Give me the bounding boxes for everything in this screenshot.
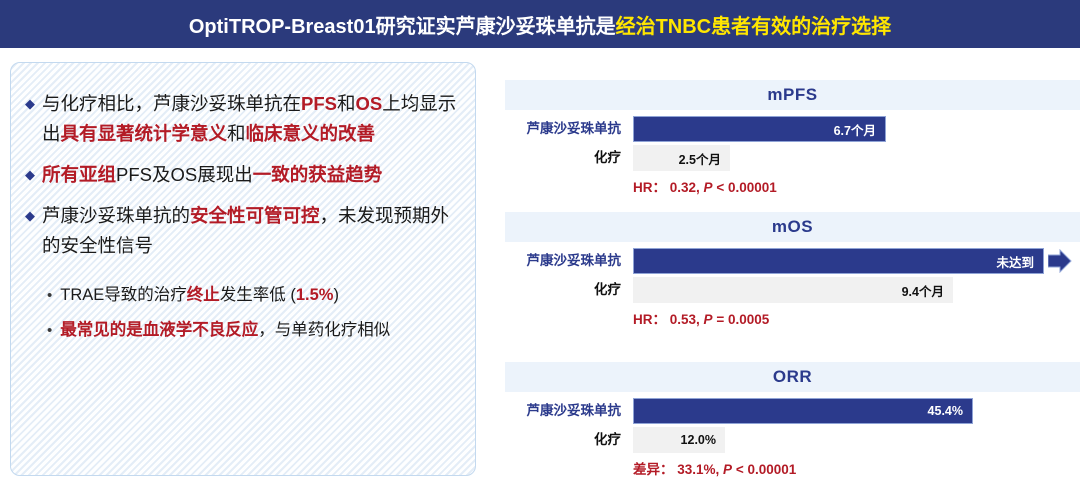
sub-bullet-text: 最常见的是血液学不良反应，与单药化疗相似 bbox=[60, 316, 457, 345]
bar-row: 化疗9.4个月 bbox=[505, 277, 1080, 303]
stat-value: 33.1% bbox=[674, 462, 716, 477]
bullet-list: ◆与化疗相比，芦康沙妥珠单抗在PFS和OS上均显示出具有显著统计学意义和临床意义… bbox=[25, 89, 457, 261]
text-segment: 芦康沙妥珠单抗的 bbox=[42, 205, 190, 226]
text-segment: 一致的获益趋势 bbox=[253, 164, 383, 185]
chart-block-mos: mOS芦康沙妥珠单抗未达到化疗9.4个月HR： 0.53, P = 0.0005 bbox=[505, 212, 1080, 328]
stat-prefix: HR： bbox=[633, 180, 666, 195]
stat-prefix: 差异： bbox=[633, 462, 674, 477]
stat-p-value: = 0.0005 bbox=[713, 312, 770, 327]
bar-category-label: 芦康沙妥珠单抗 bbox=[505, 248, 627, 274]
stat-p-symbol: P bbox=[704, 180, 713, 195]
sub-bullet-list: •TRAE导致的治疗终止发生率低 (1.5%)•最常见的是血液学不良反应，与单药… bbox=[25, 281, 457, 345]
diamond-bullet-icon: ◆ bbox=[25, 89, 35, 119]
text-segment: 安全性可管可控 bbox=[190, 205, 320, 226]
chart-title: mPFS bbox=[767, 85, 817, 105]
bar-row: 芦康沙妥珠单抗6.7个月 bbox=[505, 116, 1080, 142]
ongoing-arrow-icon bbox=[1048, 249, 1072, 273]
bar-chemo: 2.5个月 bbox=[633, 145, 730, 171]
text-segment: 与化疗相比，芦康沙妥珠单抗在 bbox=[42, 93, 301, 114]
sub-bullet-item: •TRAE导致的治疗终止发生率低 (1.5%) bbox=[47, 281, 457, 310]
diamond-bullet-icon: ◆ bbox=[25, 160, 35, 190]
bullet-item: ◆芦康沙妥珠单抗的安全性可管可控，未发现预期外的安全性信号 bbox=[25, 201, 457, 261]
text-segment: 所有亚组 bbox=[42, 164, 116, 185]
stat-p-symbol: P bbox=[704, 312, 713, 327]
stat-separator: , bbox=[696, 180, 704, 195]
text-segment: OS bbox=[356, 93, 383, 114]
bullet-item: ◆所有亚组PFS及OS展现出一致的获益趋势 bbox=[25, 160, 457, 190]
slide-title-bar: OptiTROP-Breast01研究证实芦康沙妥珠单抗是经治TNBC患者有效的… bbox=[0, 0, 1080, 48]
text-segment: ，与单药化疗相似 bbox=[258, 321, 390, 339]
stat-value: 0.53 bbox=[666, 312, 696, 327]
sub-bullet-item: •最常见的是血液学不良反应，与单药化疗相似 bbox=[47, 316, 457, 345]
dot-bullet-icon: • bbox=[47, 281, 52, 310]
text-segment: 和 bbox=[337, 93, 356, 114]
bar-value-label: 未达到 bbox=[996, 252, 1034, 271]
bar-chemo: 9.4个月 bbox=[633, 277, 953, 303]
bar-treatment: 45.4% bbox=[633, 398, 973, 424]
chart-header-orr: ORR bbox=[505, 362, 1080, 392]
text-segment: ) bbox=[333, 286, 339, 304]
text-segment: 和 bbox=[227, 123, 246, 144]
bar-value-label: 45.4% bbox=[928, 404, 963, 418]
conclusions-panel: ◆与化疗相比，芦康沙妥珠单抗在PFS和OS上均显示出具有显著统计学意义和临床意义… bbox=[10, 62, 476, 476]
text-segment: TRAE导致的治疗 bbox=[60, 286, 187, 304]
bullet-item: ◆与化疗相比，芦康沙妥珠单抗在PFS和OS上均显示出具有显著统计学意义和临床意义… bbox=[25, 89, 457, 149]
bar-value-label: 9.4个月 bbox=[902, 281, 944, 300]
stat-separator: , bbox=[716, 462, 724, 477]
bar-value-label: 6.7个月 bbox=[834, 120, 876, 139]
chart-block-mpfs: mPFS芦康沙妥珠单抗6.7个月化疗2.5个月HR： 0.32, P < 0.0… bbox=[505, 80, 1080, 196]
slide-root: OptiTROP-Breast01研究证实芦康沙妥珠单抗是经治TNBC患者有效的… bbox=[0, 0, 1080, 490]
text-segment: 最常见的是血液学不良反应 bbox=[60, 321, 258, 339]
bar-category-label: 化疗 bbox=[505, 277, 627, 303]
chart-header-mpfs: mPFS bbox=[505, 80, 1080, 110]
stat-separator: , bbox=[696, 312, 704, 327]
text-segment: 具有显著统计学意义 bbox=[61, 123, 228, 144]
chart-statistic-annotation: HR： 0.32, P < 0.00001 bbox=[633, 176, 1080, 196]
stat-p-value: < 0.00001 bbox=[732, 462, 796, 477]
bar-row: 化疗12.0% bbox=[505, 427, 1080, 453]
bar-track: 9.4个月 bbox=[633, 277, 1080, 303]
bar-value-label: 2.5个月 bbox=[679, 149, 721, 168]
chart-header-mos: mOS bbox=[505, 212, 1080, 242]
text-segment: 终止 bbox=[187, 286, 220, 304]
bar-track: 6.7个月 bbox=[633, 116, 1080, 142]
chart-title: ORR bbox=[773, 367, 812, 387]
stat-prefix: HR： bbox=[633, 312, 666, 327]
bar-category-label: 化疗 bbox=[505, 427, 627, 453]
bar-track: 2.5个月 bbox=[633, 145, 1080, 171]
bar-row: 化疗2.5个月 bbox=[505, 145, 1080, 171]
text-segment: 1.5% bbox=[296, 286, 334, 304]
bar-row: 芦康沙妥珠单抗未达到 bbox=[505, 248, 1080, 274]
chart-statistic-annotation: HR： 0.53, P = 0.0005 bbox=[633, 308, 1080, 328]
stat-value: 0.32 bbox=[666, 180, 696, 195]
stat-p-value: < 0.00001 bbox=[713, 180, 777, 195]
page-title-highlight: 经治TNBC患者有效的治疗选择 bbox=[616, 16, 892, 38]
stat-p-symbol: P bbox=[723, 462, 732, 477]
bar-category-label: 芦康沙妥珠单抗 bbox=[505, 398, 627, 424]
diamond-bullet-icon: ◆ bbox=[25, 201, 35, 231]
bullet-text: 与化疗相比，芦康沙妥珠单抗在PFS和OS上均显示出具有显著统计学意义和临床意义的… bbox=[42, 89, 457, 149]
bar-category-label: 芦康沙妥珠单抗 bbox=[505, 116, 627, 142]
chart-block-orr: ORR芦康沙妥珠单抗45.4%化疗12.0%差异： 33.1%, P < 0.0… bbox=[505, 362, 1080, 478]
bullet-text: 芦康沙妥珠单抗的安全性可管可控，未发现预期外的安全性信号 bbox=[42, 201, 457, 261]
chart-title: mOS bbox=[772, 217, 813, 237]
dot-bullet-icon: • bbox=[47, 316, 52, 345]
bar-treatment: 6.7个月 bbox=[633, 116, 886, 142]
bar-value-label: 12.0% bbox=[681, 433, 716, 447]
text-segment: 发生率低 ( bbox=[220, 286, 296, 304]
bar-track: 未达到 bbox=[633, 248, 1080, 274]
spacer bbox=[25, 272, 457, 281]
bar-row: 芦康沙妥珠单抗45.4% bbox=[505, 398, 1080, 424]
page-title: OptiTROP-Breast01研究证实芦康沙妥珠单抗是经治TNBC患者有效的… bbox=[189, 10, 891, 39]
bar-track: 12.0% bbox=[633, 427, 1080, 453]
bullet-text: 所有亚组PFS及OS展现出一致的获益趋势 bbox=[42, 160, 457, 190]
page-title-main: OptiTROP-Breast01研究证实芦康沙妥珠单抗是 bbox=[189, 16, 616, 38]
sub-bullet-text: TRAE导致的治疗终止发生率低 (1.5%) bbox=[60, 281, 457, 310]
chart-statistic-annotation: 差异： 33.1%, P < 0.00001 bbox=[633, 458, 1080, 478]
text-segment: PFS及OS展现出 bbox=[116, 164, 253, 185]
bar-category-label: 化疗 bbox=[505, 145, 627, 171]
text-segment: 临床意义的改善 bbox=[246, 123, 376, 144]
bar-treatment: 未达到 bbox=[633, 248, 1044, 274]
bar-track: 45.4% bbox=[633, 398, 1080, 424]
bar-chemo: 12.0% bbox=[633, 427, 725, 453]
text-segment: PFS bbox=[301, 93, 337, 114]
